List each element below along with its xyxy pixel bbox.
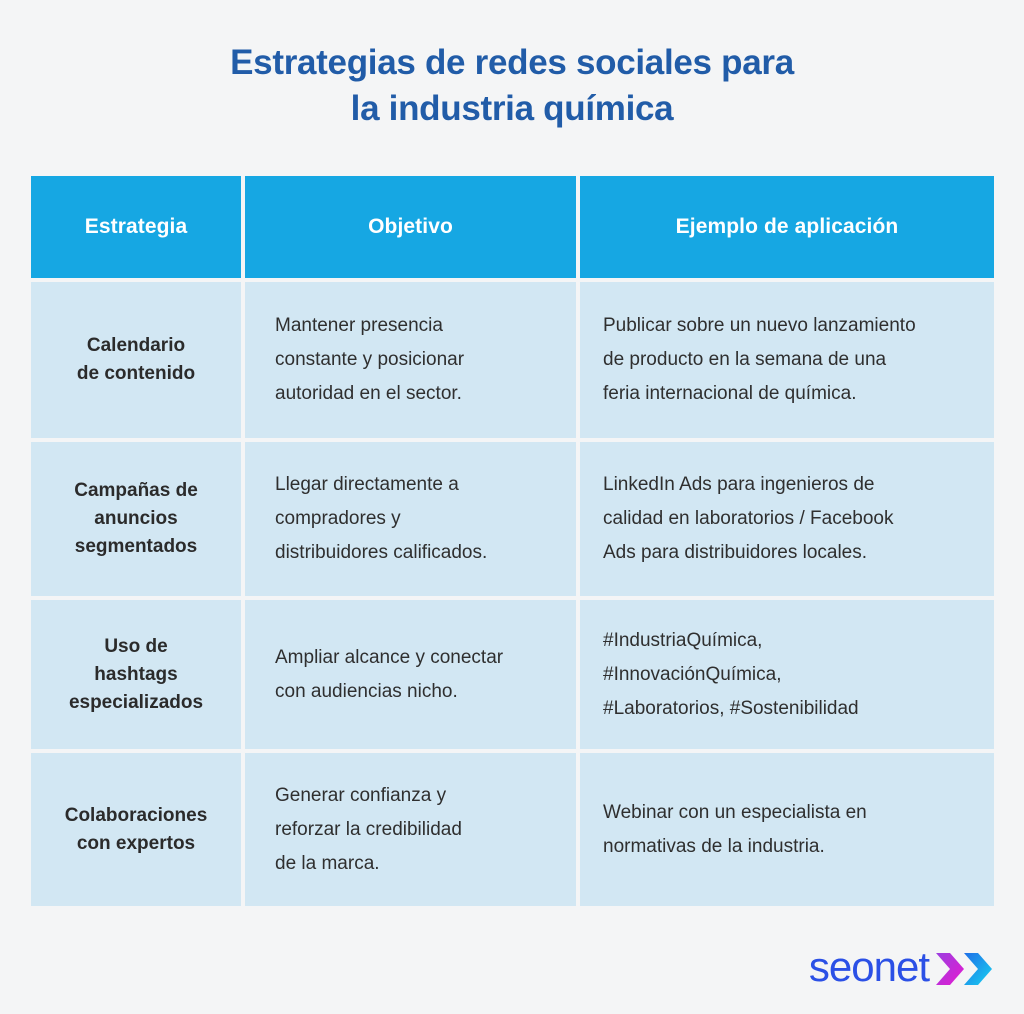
strategies-table: Estrategia Objetivo Ejemplo de aplicació… [31, 176, 994, 906]
column-header-estrategia: Estrategia [31, 176, 241, 278]
cell-text: Calendario de contenido [69, 332, 203, 388]
cell-text: Ampliar alcance y conectar con audiencia… [245, 641, 503, 709]
cell-text: Colaboraciones con expertos [57, 802, 216, 858]
table-cell-estrategia: Colaboraciones con expertos [31, 753, 241, 906]
cell-text: Webinar con un especialista en normativa… [580, 796, 867, 864]
double-chevron-icon [934, 949, 998, 989]
column-header-ejemplo: Ejemplo de aplicación [580, 176, 994, 278]
table-cell-ejemplo: #IndustriaQuímica, #InnovaciónQuímica, #… [580, 600, 994, 749]
page-title-line-1: Estrategias de redes sociales para [0, 40, 1024, 86]
table-cell-estrategia: Calendario de contenido [31, 282, 241, 438]
table-cell-objetivo: Mantener presencia constante y posiciona… [245, 282, 576, 438]
seonet-logo: seonet [809, 945, 998, 989]
page-title: Estrategias de redes sociales para la in… [0, 40, 1024, 132]
column-header-objetivo: Objetivo [245, 176, 576, 278]
infographic-page: Estrategias de redes sociales para la in… [0, 0, 1024, 1014]
cell-text: Campañas de anuncios segmentados [66, 477, 206, 561]
table-cell-ejemplo: LinkedIn Ads para ingenieros de calidad … [580, 442, 994, 596]
cell-text: Uso de hashtags especializados [61, 633, 211, 717]
table-cell-ejemplo: Publicar sobre un nuevo lanzamiento de p… [580, 282, 994, 438]
table-cell-objetivo: Llegar directamente a compradores y dist… [245, 442, 576, 596]
table-row: Colaboraciones con expertos Generar conf… [31, 753, 994, 906]
cell-text: Generar confianza y reforzar la credibil… [245, 779, 462, 881]
table-cell-objetivo: Generar confianza y reforzar la credibil… [245, 753, 576, 906]
logo-wordmark: seonet [809, 946, 929, 988]
table-row: Uso de hashtags especializados Ampliar a… [31, 600, 994, 749]
table-cell-estrategia: Uso de hashtags especializados [31, 600, 241, 749]
table-header-row: Estrategia Objetivo Ejemplo de aplicació… [31, 176, 994, 278]
cell-text: Publicar sobre un nuevo lanzamiento de p… [580, 309, 916, 411]
table-cell-estrategia: Campañas de anuncios segmentados [31, 442, 241, 596]
cell-text: Mantener presencia constante y posiciona… [245, 309, 464, 411]
table-row: Calendario de contenido Mantener presenc… [31, 282, 994, 438]
table-row: Campañas de anuncios segmentados Llegar … [31, 442, 994, 596]
cell-text: Llegar directamente a compradores y dist… [245, 468, 487, 570]
page-title-line-2: la industria química [0, 86, 1024, 132]
cell-text: #IndustriaQuímica, #InnovaciónQuímica, #… [580, 624, 859, 726]
table-cell-ejemplo: Webinar con un especialista en normativa… [580, 753, 994, 906]
cell-text: LinkedIn Ads para ingenieros de calidad … [580, 468, 893, 570]
table-cell-objetivo: Ampliar alcance y conectar con audiencia… [245, 600, 576, 749]
